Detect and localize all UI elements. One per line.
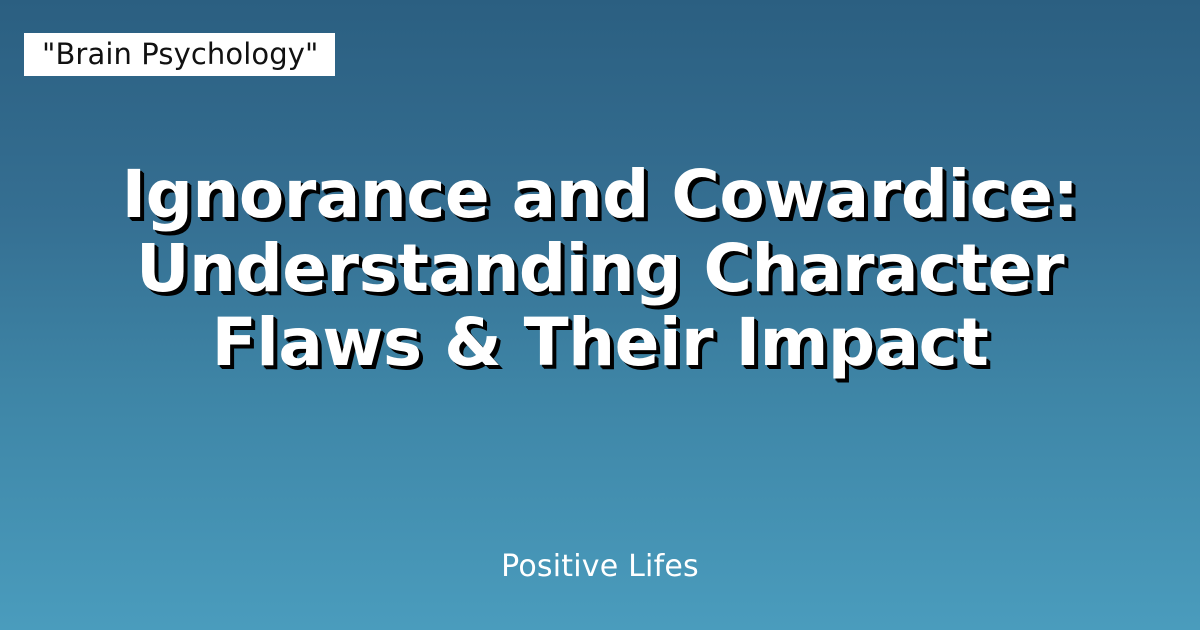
social-share-card: "Brain Psychology" Ignorance and Cowardi…	[0, 0, 1200, 630]
category-badge: "Brain Psychology"	[24, 33, 335, 76]
category-badge-label: "Brain Psychology"	[42, 40, 318, 69]
page-title: Ignorance and Cowardice: Understanding C…	[0, 158, 1200, 380]
headline-line-3: Flaws & Their Impact	[212, 306, 989, 380]
headline-line-2: Understanding Character	[136, 232, 1064, 306]
brand-name-label: Positive Lifes	[501, 549, 699, 584]
headline-line-1: Ignorance and Cowardice:	[122, 158, 1079, 232]
brand-footer: Positive Lifes	[0, 549, 1200, 585]
